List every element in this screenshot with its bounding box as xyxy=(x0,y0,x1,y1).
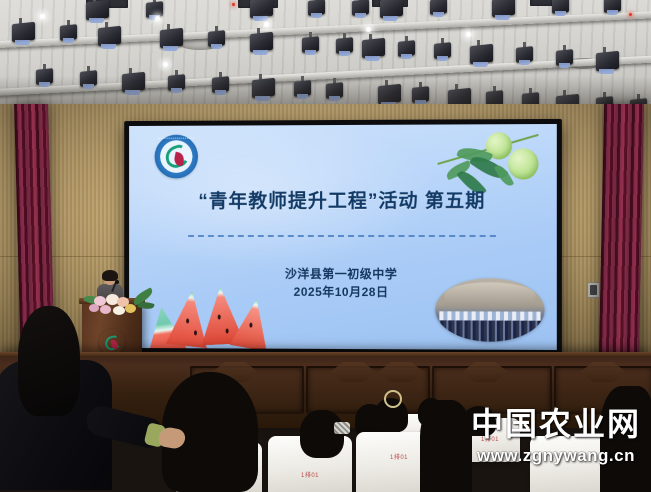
attendee-foreground-far-right xyxy=(600,386,651,492)
attendee-foreground-right xyxy=(420,400,472,492)
stage-spotlight xyxy=(12,18,35,44)
watermelon-seed xyxy=(194,330,197,335)
ceiling xyxy=(0,0,651,118)
attendee-head xyxy=(300,410,344,458)
slide-divider xyxy=(188,235,496,237)
stage-spotlight xyxy=(492,0,515,19)
stage-spotlight xyxy=(516,42,533,64)
truss-work-light xyxy=(264,22,269,27)
hand xyxy=(157,426,186,450)
chair-cover-label: 1排01 xyxy=(390,452,408,461)
indicator-light xyxy=(232,3,235,6)
stage-spotlight xyxy=(434,38,451,60)
watermelon-seed xyxy=(226,329,229,334)
stage-spotlight xyxy=(336,33,353,55)
watermelon-seed xyxy=(249,323,252,328)
hair-clip-icon xyxy=(334,422,350,434)
slide-title: “青年教师提升工程”活动 第五期 xyxy=(129,186,557,214)
truss-work-light xyxy=(466,32,471,37)
stage-spotlight xyxy=(302,32,319,54)
stage-spotlight xyxy=(556,45,573,67)
stage-spotlight xyxy=(398,36,415,58)
stage-spotlight xyxy=(98,22,121,48)
truss-work-light xyxy=(366,27,371,32)
truss-work-light xyxy=(163,62,168,67)
truss-work-light xyxy=(40,14,45,19)
foreground-person-left xyxy=(0,300,194,492)
stage-spotlight xyxy=(308,0,325,17)
watermelon-seed xyxy=(218,315,221,320)
truss-work-light xyxy=(155,16,160,21)
inset-photo xyxy=(435,278,544,342)
pear-icon xyxy=(508,148,538,179)
indicator-light xyxy=(629,13,632,16)
stage-spotlight xyxy=(596,47,619,73)
stage-spotlight xyxy=(380,0,403,20)
stage-spotlight xyxy=(60,20,77,42)
stage-spotlight xyxy=(470,40,493,66)
auditorium-photo: “青年教师提升工程”活动 第五期 沙洋县第一初级中学 2025年10月28日 xyxy=(0,0,651,492)
stage-spotlight xyxy=(430,0,447,16)
stage-spotlight xyxy=(160,24,183,50)
stage-spotlight xyxy=(604,0,621,14)
chair-cover-label: 1排01 xyxy=(301,470,319,479)
stage-spotlight xyxy=(362,34,385,60)
watermelon-slice xyxy=(230,296,276,350)
hair-tie-icon xyxy=(384,390,402,408)
stage-spotlight xyxy=(250,0,273,20)
school-emblem-icon xyxy=(155,135,198,179)
stage-spotlight xyxy=(352,0,369,17)
stage-spotlight xyxy=(552,0,569,15)
stage-spotlight xyxy=(250,28,273,54)
chair-cover xyxy=(530,436,608,492)
stage-spotlight xyxy=(208,26,225,48)
stage-spotlight xyxy=(86,0,109,22)
